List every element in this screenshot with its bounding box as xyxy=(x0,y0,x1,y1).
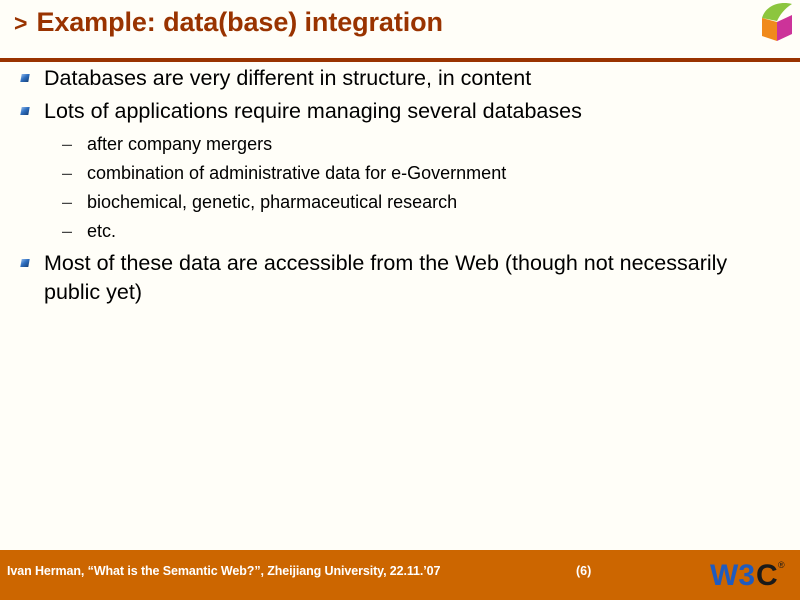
page-number: (6) xyxy=(576,564,591,578)
slide-header: > Example: data(base) integration xyxy=(0,0,800,58)
square-bullet-icon xyxy=(20,107,29,115)
svg-text:W3: W3 xyxy=(710,559,755,592)
dash-bullet-icon: – xyxy=(62,131,72,157)
header-divider xyxy=(0,58,800,62)
sub-bullet-text: etc. xyxy=(87,221,116,241)
sub-bullet-text: after company mergers xyxy=(87,134,272,154)
sub-bullet-list: – after company mergers – combination of… xyxy=(0,131,800,244)
cube-logo-icon xyxy=(758,3,796,43)
bullet-item: Lots of applications require managing se… xyxy=(0,97,800,125)
page-title: Example: data(base) integration xyxy=(36,8,443,36)
w3c-logo-icon: W3 C ® xyxy=(710,558,792,592)
title-chevron-icon: > xyxy=(14,12,27,35)
sub-bullet-item: – etc. xyxy=(0,218,800,244)
sub-bullet-text: biochemical, genetic, pharmaceutical res… xyxy=(87,192,457,212)
sub-bullet-item: – after company mergers xyxy=(0,131,800,157)
bullet-text: Databases are very different in structur… xyxy=(44,66,531,90)
dash-bullet-icon: – xyxy=(62,189,72,215)
square-bullet-icon xyxy=(20,259,29,267)
bullet-text: Most of these data are accessible from t… xyxy=(44,251,727,303)
slide: > Example: data(base) integration Databa… xyxy=(0,0,800,600)
slide-footer: Ivan Herman, “What is the Semantic Web?”… xyxy=(0,550,800,600)
slide-content: Databases are very different in structur… xyxy=(0,64,800,311)
sub-bullet-item: – combination of administrative data for… xyxy=(0,160,800,186)
dash-bullet-icon: – xyxy=(62,160,72,186)
svg-text:C: C xyxy=(756,559,778,592)
title-row: > Example: data(base) integration xyxy=(14,8,443,36)
footer-credit: Ivan Herman, “What is the Semantic Web?”… xyxy=(7,564,440,578)
bullet-text: Lots of applications require managing se… xyxy=(44,99,582,123)
sub-bullet-text: combination of administrative data for e… xyxy=(87,163,506,183)
square-bullet-icon xyxy=(20,74,29,82)
bullet-item: Most of these data are accessible from t… xyxy=(0,249,800,306)
sub-bullet-item: – biochemical, genetic, pharmaceutical r… xyxy=(0,189,800,215)
bullet-item: Databases are very different in structur… xyxy=(0,64,800,92)
svg-text:®: ® xyxy=(778,560,785,570)
dash-bullet-icon: – xyxy=(62,218,72,244)
